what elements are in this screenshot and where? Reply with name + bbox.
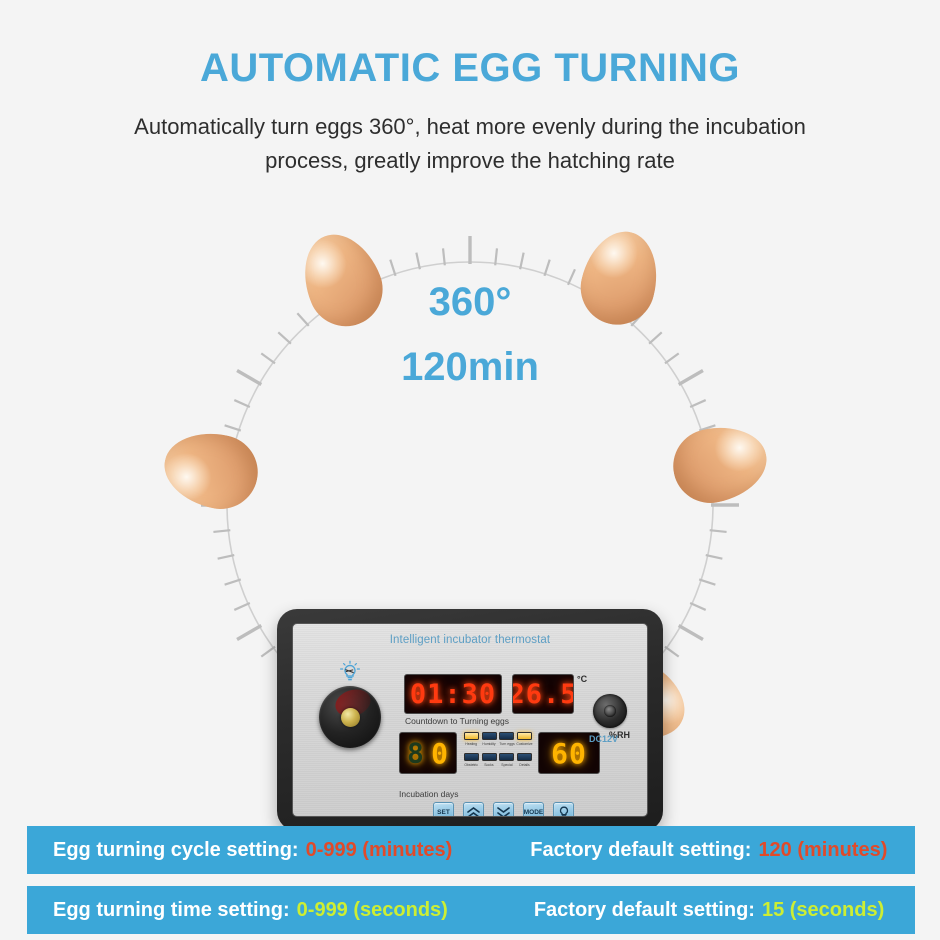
device-button-row: SETMODE <box>433 802 574 817</box>
mode-button-label: MODE <box>524 809 544 816</box>
dial-tick <box>297 313 308 326</box>
page-header: AUTOMATIC EGG TURNING Automatically turn… <box>0 0 940 178</box>
lamp-socket-knob[interactable] <box>319 686 381 748</box>
banner-cycle-left-label: Egg turning cycle setting: <box>53 839 299 862</box>
banner-time-right-value: 15 (seconds) <box>762 899 884 922</box>
status-indicator: Turn eggs <box>498 732 515 753</box>
thermostat-controller-device: Intelligent incubator thermostat <box>277 609 663 831</box>
dial-tick <box>416 253 420 270</box>
dial-tick <box>261 647 275 657</box>
subtitle-line-2: process, greatly improve the hatching ra… <box>0 144 940 178</box>
status-indicator-label: Heating <box>465 742 477 746</box>
status-indicator: Special <box>498 753 515 774</box>
banner-time-right-label: Factory default setting: <box>534 899 755 922</box>
dial-tick <box>706 555 723 559</box>
status-indicator-label: Socks <box>484 763 493 767</box>
status-indicator: Socks <box>481 753 498 774</box>
banner-time-left-label: Egg turning time setting: <box>53 899 290 922</box>
dial-tick <box>544 260 549 276</box>
dial-tick <box>278 332 291 343</box>
incubation-days-display: 0 <box>399 732 457 774</box>
status-indicator-lamp <box>517 732 532 740</box>
dial-tick <box>665 647 679 657</box>
dial-tick <box>520 253 524 270</box>
status-indicator-lamp <box>464 753 479 761</box>
status-indicator: Humidity <box>481 732 498 753</box>
bulb-icon <box>557 805 571 817</box>
status-indicator-lamp <box>482 732 497 740</box>
status-indicator-label: Special <box>501 763 512 767</box>
temperature-unit-label: °C <box>577 674 587 684</box>
up-button[interactable] <box>463 802 484 817</box>
dial-tick <box>234 603 250 610</box>
dial-tick <box>261 353 275 363</box>
banner-cycle-right-value: 120 (minutes) <box>758 839 887 862</box>
chevron-up-icon <box>466 806 481 817</box>
dial-tick <box>679 626 703 640</box>
dial-tick <box>649 332 662 343</box>
banner-time-left-value: 0-999 (seconds) <box>297 899 448 922</box>
status-indicator-lamp <box>482 753 497 761</box>
incubation-days-label: Incubation days <box>399 789 459 799</box>
temperature-display: 26.5 <box>512 674 574 714</box>
dial-tick <box>690 603 706 610</box>
page-subtitle: Automatically turn eggs 360°, heat more … <box>0 110 940 178</box>
rotation-dial-illustration: 360° 120min Intelligent incubator thermo… <box>0 195 940 815</box>
status-indicator-label: Details <box>519 763 529 767</box>
dc-power-jack-label: DC12V <box>589 734 618 744</box>
dial-tick <box>568 269 575 285</box>
dial-tick <box>234 400 250 407</box>
down-button[interactable] <box>493 802 514 817</box>
status-indicator-label: Turn eggs <box>499 742 514 746</box>
dial-tick <box>218 555 235 559</box>
status-indicator-lamp <box>464 732 479 740</box>
dial-tick <box>699 579 715 584</box>
light-button[interactable] <box>553 802 574 817</box>
banner-egg-turning-cycle: Egg turning cycle setting: 0-999 (minute… <box>27 826 915 874</box>
subtitle-line-1: Automatically turn eggs 360°, heat more … <box>134 114 806 139</box>
status-indicator-lamp <box>499 753 514 761</box>
banner-cycle-left-value: 0-999 (minutes) <box>306 839 453 862</box>
status-indicator: Obstetric <box>463 753 480 774</box>
status-indicator: Heating <box>463 732 480 753</box>
mode-button[interactable]: MODE <box>523 802 544 817</box>
dial-tick <box>225 425 241 430</box>
countdown-display: 01:30 <box>404 674 502 714</box>
status-indicator: Details <box>516 753 533 774</box>
chevron-down-icon <box>496 806 511 817</box>
dial-tick <box>225 579 241 584</box>
lamp-socket-pin <box>341 708 360 727</box>
dial-tick <box>665 353 679 363</box>
dial-tick <box>237 626 261 640</box>
countdown-display-label: Countdown to Turning eggs <box>405 716 509 726</box>
dial-tick <box>679 371 703 385</box>
dial-tick <box>390 260 395 276</box>
banner-cycle-right-label: Factory default setting: <box>530 839 751 862</box>
device-brand-title: Intelligent incubator thermostat <box>293 634 647 646</box>
lamp-indicator-icon <box>337 658 363 689</box>
status-indicator-lamp <box>499 732 514 740</box>
page-title: AUTOMATIC EGG TURNING <box>0 48 940 88</box>
device-faceplate: Intelligent incubator thermostat <box>292 623 648 817</box>
dial-tick <box>237 371 261 385</box>
set-button-label: SET <box>437 809 450 816</box>
status-indicator-lamp <box>517 753 532 761</box>
status-indicator-label: Customize <box>516 742 532 746</box>
status-indicator-label: Humidity <box>482 742 495 746</box>
status-indicator-grid: HeatingHumidityTurn eggsCustomizeObstetr… <box>463 732 533 774</box>
status-indicator-label: Obstetric <box>465 763 479 767</box>
set-button[interactable]: SET <box>433 802 454 817</box>
dial-tick <box>690 400 706 407</box>
status-indicator: Customize <box>516 732 533 753</box>
banner-egg-turning-time: Egg turning time setting: 0-999 (seconds… <box>27 886 915 934</box>
dc-power-jack[interactable] <box>593 694 627 728</box>
